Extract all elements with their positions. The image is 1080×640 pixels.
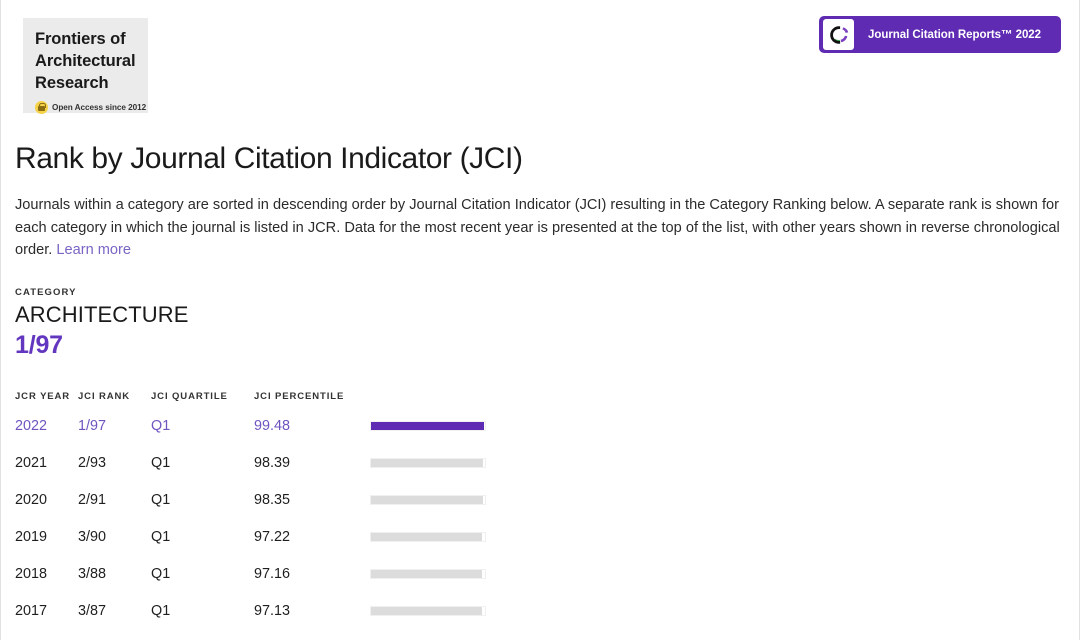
rank-table-head: JCR YEAR JCI RANK JCI QUARTILE JCI PERCE… (15, 391, 500, 418)
table-header-row: JCR YEAR JCI RANK JCI QUARTILE JCI PERCE… (15, 391, 500, 418)
page-header: Frontiers of Architectural Research Open… (1, 0, 1079, 128)
header-jci-rank: JCI RANK (78, 391, 151, 418)
header-percentile-bar (370, 391, 500, 418)
table-row: 20173/87Q197.13 (15, 603, 500, 640)
cell-jcr-year: 2019 (15, 529, 78, 566)
journal-logo-card: Frontiers of Architectural Research Open… (23, 18, 148, 113)
rank-table: JCR YEAR JCI RANK JCI QUARTILE JCI PERCE… (15, 391, 500, 640)
learn-more-link[interactable]: Learn more (56, 242, 131, 258)
header-jci-quartile: JCI QUARTILE (151, 391, 254, 418)
open-access-label: Open Access since 2012 (52, 103, 146, 112)
category-name: ARCHITECTURE (15, 302, 1065, 328)
category-rank: 1/97 (15, 331, 1065, 360)
percentile-bar-fill (371, 422, 484, 430)
cell-jci-percentile: 99.48 (254, 418, 370, 455)
cell-percentile-bar (370, 492, 500, 529)
cell-jci-percentile: 97.22 (254, 529, 370, 566)
percentile-bar-fill (371, 607, 482, 615)
percentile-bar-fill (371, 533, 482, 541)
percentile-bar-track (370, 569, 486, 579)
cell-percentile-bar (370, 418, 500, 455)
cell-jcr-year: 2021 (15, 455, 78, 492)
table-row: 20221/97Q199.48 (15, 418, 500, 455)
table-row: 20183/88Q197.16 (15, 566, 500, 603)
open-access-badge: Open Access since 2012 (35, 101, 139, 114)
percentile-bar-fill (371, 496, 483, 504)
percentile-bar-track (370, 495, 486, 505)
journal-title: Frontiers of Architectural Research (35, 28, 139, 94)
category-label: CATEGORY (15, 287, 1065, 298)
cell-jci-rank: 3/88 (78, 566, 151, 603)
page-description: Journals within a category are sorted in… (15, 194, 1065, 262)
cell-jci-rank: 2/93 (78, 455, 151, 492)
cell-jci-rank: 3/87 (78, 603, 151, 640)
percentile-bar-track (370, 458, 486, 468)
table-row: 20202/91Q198.35 (15, 492, 500, 529)
cell-jci-rank: 3/90 (78, 529, 151, 566)
percentile-bar-track (370, 421, 486, 431)
cell-jci-quartile: Q1 (151, 566, 254, 603)
cell-jci-quartile: Q1 (151, 603, 254, 640)
cell-jcr-year: 2018 (15, 566, 78, 603)
cell-percentile-bar (370, 455, 500, 492)
rank-table-body: 20221/97Q199.4820212/93Q198.3920202/91Q1… (15, 418, 500, 640)
cell-jci-percentile: 97.13 (254, 603, 370, 640)
header-jcr-year: JCR YEAR (15, 391, 78, 418)
cell-jci-percentile: 98.39 (254, 455, 370, 492)
cell-percentile-bar (370, 529, 500, 566)
table-row: 20212/93Q198.39 (15, 455, 500, 492)
percentile-bar-track (370, 532, 486, 542)
page-title: Rank by Journal Citation Indicator (JCI) (15, 142, 1065, 176)
percentile-bar-fill (371, 459, 483, 467)
percentile-bar-track (370, 606, 486, 616)
cell-jci-quartile: Q1 (151, 529, 254, 566)
category-block: CATEGORY ARCHITECTURE 1/97 (15, 287, 1065, 360)
percentile-bar-fill (371, 570, 482, 578)
cell-jci-percentile: 98.35 (254, 492, 370, 529)
jcr-badge[interactable]: Journal Citation Reports™ 2022 (819, 16, 1061, 53)
cell-jci-quartile: Q1 (151, 455, 254, 492)
description-text: Journals within a category are sorted in… (15, 197, 1060, 258)
jcr-badge-label: Journal Citation Reports™ 2022 (854, 29, 1057, 41)
cell-jci-quartile: Q1 (151, 492, 254, 529)
cell-jci-quartile: Q1 (151, 418, 254, 455)
open-lock-icon (35, 101, 48, 114)
cell-jcr-year: 2022 (15, 418, 78, 455)
table-row: 20193/90Q197.22 (15, 529, 500, 566)
cell-jcr-year: 2017 (15, 603, 78, 640)
clarivate-jcr-logo-icon (823, 19, 854, 50)
cell-jci-rank: 2/91 (78, 492, 151, 529)
cell-jci-percentile: 97.16 (254, 566, 370, 603)
cell-percentile-bar (370, 566, 500, 603)
header-jci-percentile: JCI PERCENTILE (254, 391, 370, 418)
jcr-rank-page: Frontiers of Architectural Research Open… (0, 0, 1080, 640)
main-content: Rank by Journal Citation Indicator (JCI)… (1, 142, 1079, 640)
cell-jci-rank: 1/97 (78, 418, 151, 455)
cell-jcr-year: 2020 (15, 492, 78, 529)
cell-percentile-bar (370, 603, 500, 640)
